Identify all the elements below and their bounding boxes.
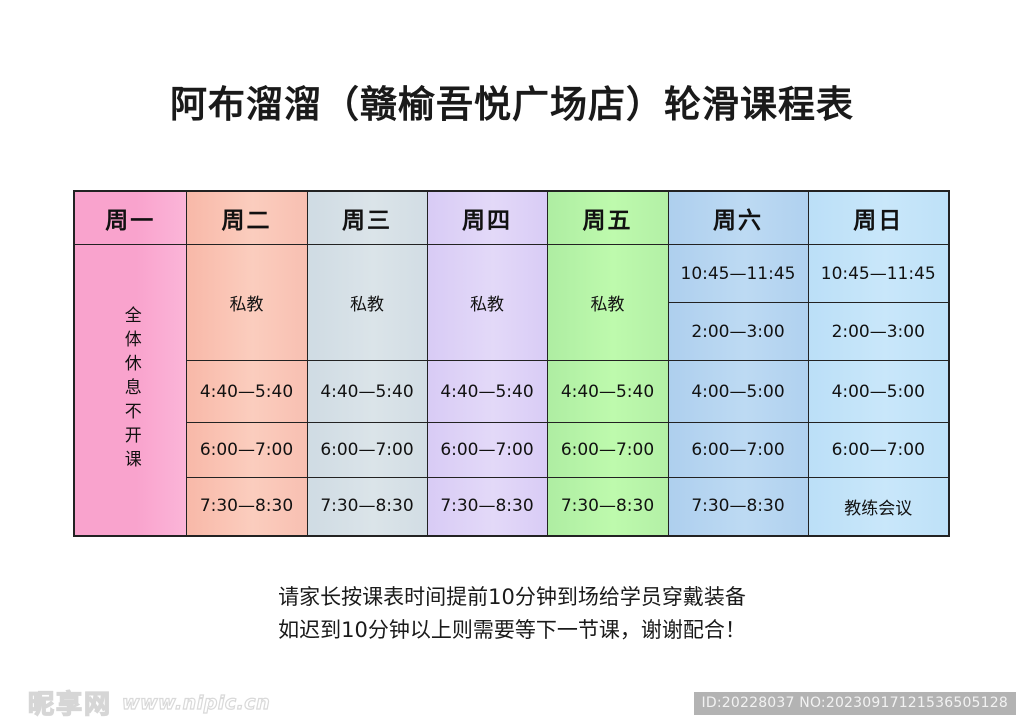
time-cell-tuesday-1: 4:40—5:40 <box>186 361 307 423</box>
table-row: 6:00—7:00 6:00—7:00 6:00—7:00 6:00—7:00 … <box>74 423 949 478</box>
table-row: 全体休息不开课 私教 私教 私教 私教 10:45—11:45 10:45—11… <box>74 245 949 303</box>
time-cell-thursday-1: 4:40—5:40 <box>427 361 547 423</box>
site-logo: 昵享网 www.nipic.cn <box>28 684 270 721</box>
time-cell-friday-2: 6:00—7:00 <box>547 423 668 478</box>
time-cell-saturday-3: 4:00—5:00 <box>668 361 808 423</box>
time-cell-wednesday-1: 4:40—5:40 <box>307 361 427 423</box>
time-cell-friday-3: 7:30—8:30 <box>547 478 668 536</box>
footer-notes: 请家长按课表时间提前10分钟到场给学员穿戴装备 如迟到10分钟以上则需要等下一节… <box>0 581 1024 647</box>
time-cell-saturday-5: 7:30—8:30 <box>668 478 808 536</box>
page-title: 阿布溜溜（赣榆吾悦广场店）轮滑课程表 <box>0 74 1024 128</box>
time-cell-saturday-4: 6:00—7:00 <box>668 423 808 478</box>
site-url-text: www.nipic.cn <box>122 692 270 714</box>
header-cell-sunday: 周日 <box>808 191 949 245</box>
time-cell-saturday-1: 10:45—11:45 <box>668 245 808 303</box>
header-cell-wednesday: 周三 <box>307 191 427 245</box>
time-cell-wednesday-3: 7:30—8:30 <box>307 478 427 536</box>
session-cell-tuesday: 私教 <box>186 245 307 361</box>
coach-meeting-cell-sunday: 教练会议 <box>808 478 949 536</box>
session-cell-thursday: 私教 <box>427 245 547 361</box>
header-cell-tuesday: 周二 <box>186 191 307 245</box>
header-cell-friday: 周五 <box>547 191 668 245</box>
header-cell-thursday: 周四 <box>427 191 547 245</box>
header-cell-monday: 周一 <box>74 191 186 245</box>
table-row: 4:40—5:40 4:40—5:40 4:40—5:40 4:40—5:40 … <box>74 361 949 423</box>
time-cell-thursday-3: 7:30—8:30 <box>427 478 547 536</box>
header-cell-saturday: 周六 <box>668 191 808 245</box>
footer-note-line-1: 请家长按课表时间提前10分钟到场给学员穿戴装备 <box>0 581 1024 614</box>
time-cell-sunday-2: 2:00—3:00 <box>808 303 949 361</box>
session-cell-friday: 私教 <box>547 245 668 361</box>
schedule-table: 周一 周二 周三 周四 周五 周六 周日 全体休息不开课 私教 私教 私教 私教… <box>73 190 950 537</box>
time-cell-saturday-2: 2:00—3:00 <box>668 303 808 361</box>
time-cell-tuesday-2: 6:00—7:00 <box>186 423 307 478</box>
site-logo-text: 昵享网 <box>28 684 112 721</box>
monday-rest-note-text: 全体休息不开课 <box>122 306 139 474</box>
time-cell-sunday-1: 10:45—11:45 <box>808 245 949 303</box>
image-id-badge: ID:20228037 NO:20230917121536505128 <box>694 692 1016 715</box>
time-cell-tuesday-3: 7:30—8:30 <box>186 478 307 536</box>
table-row: 7:30—8:30 7:30—8:30 7:30—8:30 7:30—8:30 … <box>74 478 949 536</box>
time-cell-friday-1: 4:40—5:40 <box>547 361 668 423</box>
table-header-row: 周一 周二 周三 周四 周五 周六 周日 <box>74 191 949 245</box>
time-cell-wednesday-2: 6:00—7:00 <box>307 423 427 478</box>
footer-note-line-2: 如迟到10分钟以上则需要等下一节课，谢谢配合！ <box>0 614 1024 647</box>
session-cell-wednesday: 私教 <box>307 245 427 361</box>
time-cell-sunday-4: 6:00—7:00 <box>808 423 949 478</box>
time-cell-sunday-3: 4:00—5:00 <box>808 361 949 423</box>
monday-rest-note: 全体休息不开课 <box>74 245 186 536</box>
time-cell-thursday-2: 6:00—7:00 <box>427 423 547 478</box>
